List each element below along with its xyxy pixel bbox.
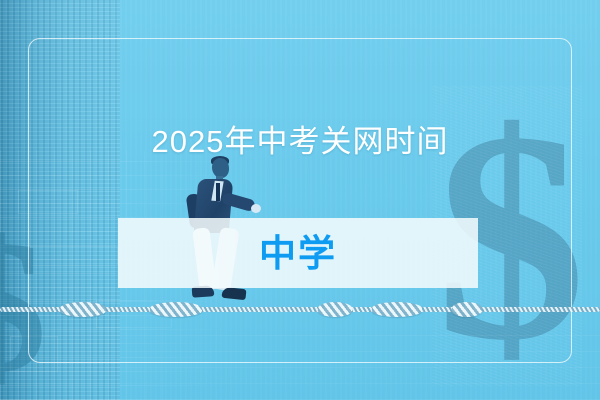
figure-head <box>212 158 229 178</box>
promo-banner: $ $ 2025年中考关网时间 中学 <box>0 0 600 400</box>
category-label-text: 中学 <box>259 235 337 272</box>
category-label-band: 中学 <box>118 218 478 288</box>
banner-title: 2025年中考关网时间 <box>0 124 600 160</box>
figure-shoe <box>221 287 246 300</box>
figure-tie <box>216 183 220 201</box>
rope-knot <box>60 302 106 317</box>
rope-knot <box>372 302 422 317</box>
rope-knot <box>452 302 482 317</box>
tightrope-graphic <box>0 302 600 316</box>
rope-knot <box>318 302 352 317</box>
figure-hand <box>251 204 261 213</box>
